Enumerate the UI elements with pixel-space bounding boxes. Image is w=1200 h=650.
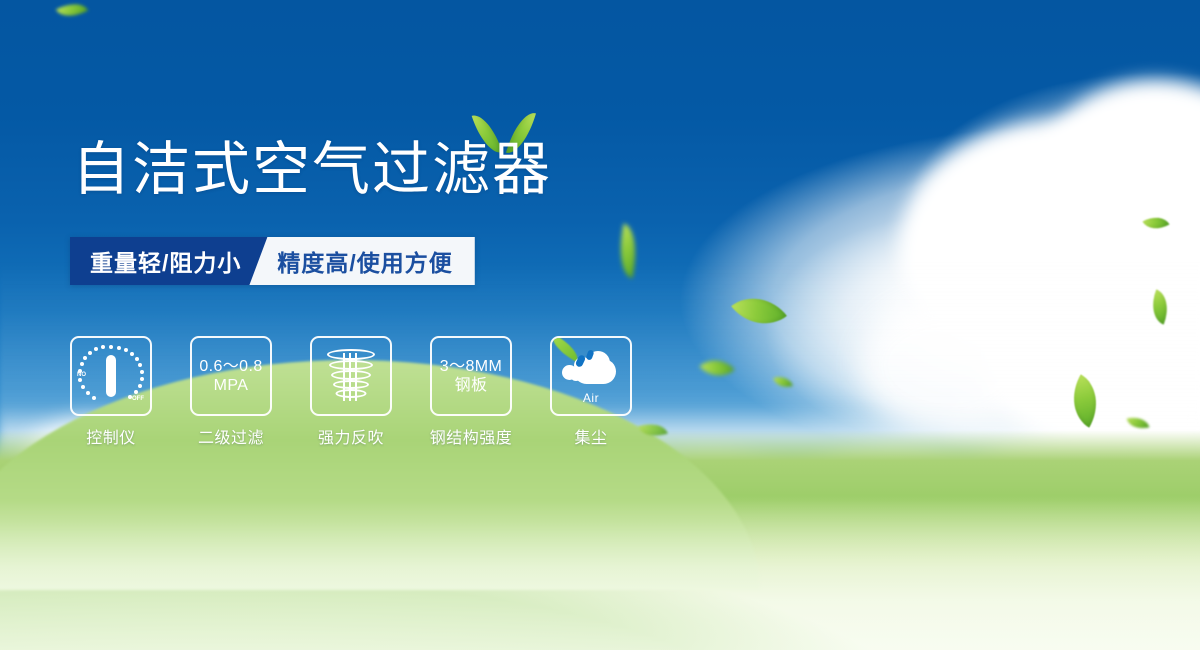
feature-item-steel[interactable]: 3～8MM 钢板 钢结构强度 (430, 336, 512, 448)
air-label: Air (560, 391, 622, 405)
subtitle-right: 精度高/使用方便 (249, 237, 474, 285)
gauge-label-off: OFF (132, 396, 144, 402)
pressure-value: 0.6～0.8 (199, 357, 262, 376)
feature-icon-box: Air (550, 336, 632, 416)
banner-content: 自洁式空气过滤器 重量轻/阻力小 精度高/使用方便 (0, 0, 1200, 650)
subtitle-left: 重量轻/阻力小 (70, 237, 267, 285)
page-title: 自洁式空气过滤器 (72, 141, 552, 199)
gauge-label-no: NO (77, 372, 86, 378)
gauge-icon: NO OFF (77, 345, 145, 407)
pressure-unit: MPA (199, 376, 262, 395)
feature-item-blowback[interactable]: 强力反吹 (310, 336, 392, 448)
feature-caption: 强力反吹 (318, 424, 384, 448)
feature-caption: 二级过滤 (198, 424, 264, 448)
feature-icon-box: 3～8MM 钢板 (430, 336, 512, 416)
feature-item-pressure[interactable]: 0.6～0.8 MPA 二级过滤 (190, 336, 272, 448)
steel-material: 钢板 (440, 376, 502, 395)
feature-icon-box: 0.6～0.8 MPA (190, 336, 272, 416)
feature-caption: 钢结构强度 (430, 424, 513, 448)
subtitle-bar: 重量轻/阻力小 精度高/使用方便 (70, 237, 475, 285)
feature-item-controller[interactable]: NO OFF 控制仪 (70, 336, 152, 448)
feature-icon-box: NO OFF (70, 336, 152, 416)
blowback-icon (325, 347, 377, 405)
feature-item-dust[interactable]: Air 集尘 (550, 336, 632, 448)
gauge-needle (106, 355, 116, 397)
feature-icon-box (310, 336, 392, 416)
air-cloud-icon: Air (560, 349, 622, 403)
pressure-icon: 0.6～0.8 MPA (199, 357, 262, 395)
feature-caption: 集尘 (574, 424, 607, 448)
steel-thickness: 3～8MM (440, 357, 502, 376)
feature-caption: 控制仪 (86, 424, 136, 448)
steel-plate-icon: 3～8MM 钢板 (440, 357, 502, 395)
hero-banner: 自洁式空气过滤器 重量轻/阻力小 精度高/使用方便 (0, 0, 1200, 650)
feature-list: NO OFF 控制仪 0.6～0.8 MPA 二级过滤 (70, 336, 632, 448)
